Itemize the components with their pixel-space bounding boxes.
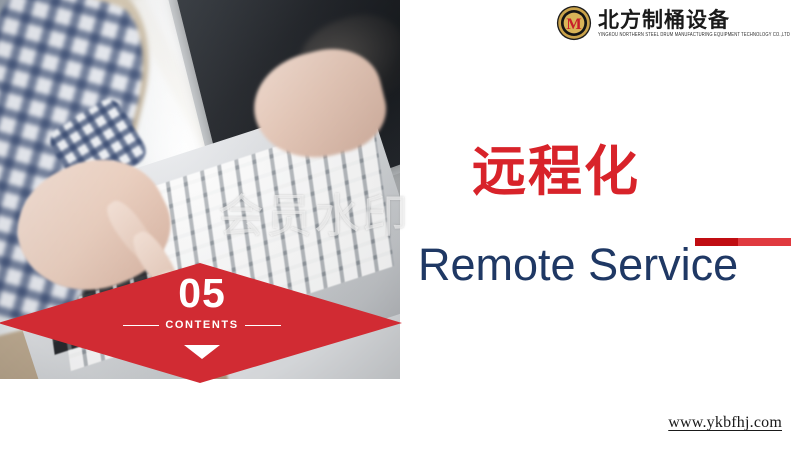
down-caret-icon	[184, 345, 220, 359]
company-name-cn: 北方制桶设备	[598, 10, 790, 31]
company-logo: M 北方制桶设备 YINGKOU NORTHERN STEEL DRUM MAN…	[556, 5, 790, 41]
svg-text:M: M	[566, 15, 581, 33]
company-seal-icon: M	[556, 5, 592, 41]
accent-bar-segment-light	[738, 238, 791, 246]
section-title-en: Remote Service	[418, 240, 738, 290]
company-name-en: YINGKOU NORTHERN STEEL DRUM MANUFACTURIN…	[598, 32, 790, 37]
contents-label-row: CONTENTS	[0, 320, 404, 331]
company-logo-text: 北方制桶设备 YINGKOU NORTHERN STEEL DRUM MANUF…	[598, 10, 790, 36]
slide-canvas: 会员水印 05 CONTENTS M 北方制桶设备 YINGKOU NORTHE…	[0, 0, 800, 450]
contents-label: CONTENTS	[165, 320, 238, 331]
footer-website-url[interactable]: www.ykbfhj.com	[668, 414, 782, 432]
contents-number: 05	[0, 273, 404, 314]
contents-rule-left	[123, 325, 159, 326]
contents-rule-right	[245, 325, 281, 326]
section-title-cn: 远程化	[472, 144, 640, 201]
